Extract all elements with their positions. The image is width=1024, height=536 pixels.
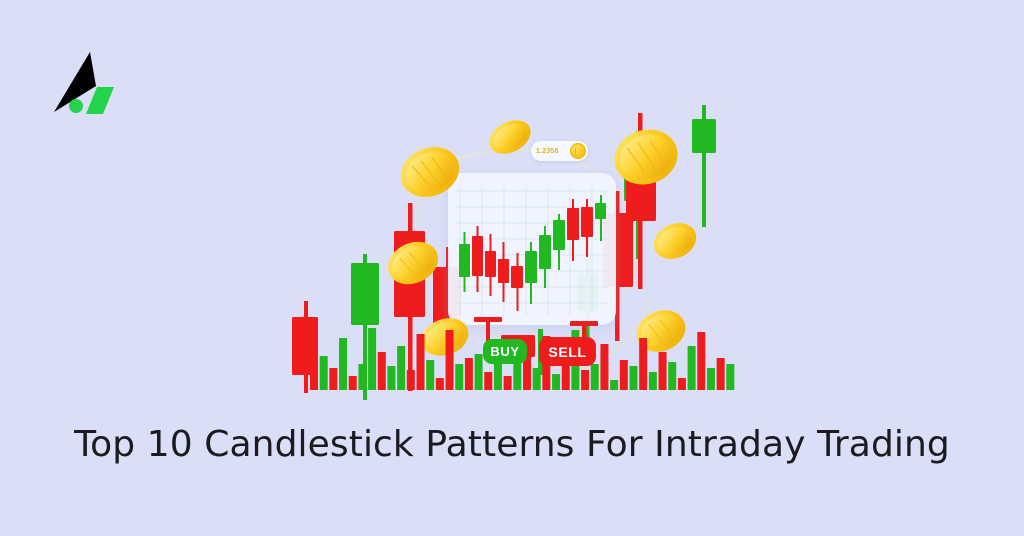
volume-bar (407, 370, 415, 390)
volume-bar (455, 364, 463, 390)
chart-card (448, 173, 616, 325)
volume-bar (610, 380, 618, 390)
volume-bar (349, 376, 357, 390)
volume-bar (339, 338, 347, 390)
volume-bar (678, 378, 686, 390)
volume-bar (659, 352, 667, 390)
logo-green-parallelogram (86, 87, 114, 114)
gold-coin-icon (570, 143, 586, 159)
logo-green-dot (69, 99, 83, 113)
volume-bar (484, 372, 492, 390)
volume-bar (397, 346, 405, 390)
volume-bar (310, 358, 318, 390)
volume-bar (707, 368, 715, 390)
volume-bar (533, 368, 541, 390)
volume-bar (358, 364, 366, 390)
volume-bar (620, 360, 628, 390)
volume-bar (513, 362, 521, 390)
volume-bar (329, 368, 337, 390)
volume-bar (426, 360, 434, 390)
volume-bar (387, 366, 395, 390)
gold-coin-icon (484, 113, 537, 160)
volume-bar (504, 376, 512, 390)
volume-bar (668, 362, 676, 390)
brand-logo-icon (46, 44, 120, 118)
volume-bar (630, 366, 638, 390)
volume-bar (436, 378, 444, 390)
volume-bar (688, 346, 696, 390)
buy-button[interactable]: BUY (483, 339, 527, 364)
volume-bar (600, 344, 608, 390)
volume-bar (591, 364, 599, 390)
volume-bar (697, 332, 705, 390)
poster-canvas: 1.2358 BUY SELL Top 10 Candlestick Patte… (0, 0, 1024, 536)
gold-coin-icon (648, 217, 702, 266)
volume-bar (717, 358, 725, 390)
volume-bar (581, 370, 589, 390)
volume-bar (320, 356, 328, 390)
volume-bar (552, 374, 560, 390)
price-badge-value: 1.2358 (536, 148, 559, 155)
price-badge: 1.2358 (531, 141, 588, 161)
volume-bar (475, 354, 483, 390)
volume-bar (726, 364, 734, 390)
volume-bar (378, 352, 386, 390)
sell-button[interactable]: SELL (539, 337, 596, 366)
volume-bar (465, 358, 473, 390)
volume-bar (446, 330, 454, 390)
gold-coin-icon (607, 121, 685, 192)
volume-bar (417, 334, 425, 390)
volume-bar (649, 372, 657, 390)
page-title: Top 10 Candlestick Patterns For Intraday… (0, 424, 1024, 465)
volume-bar (368, 328, 376, 390)
volume-bar (639, 338, 647, 390)
brand-logo[interactable] (46, 44, 120, 118)
